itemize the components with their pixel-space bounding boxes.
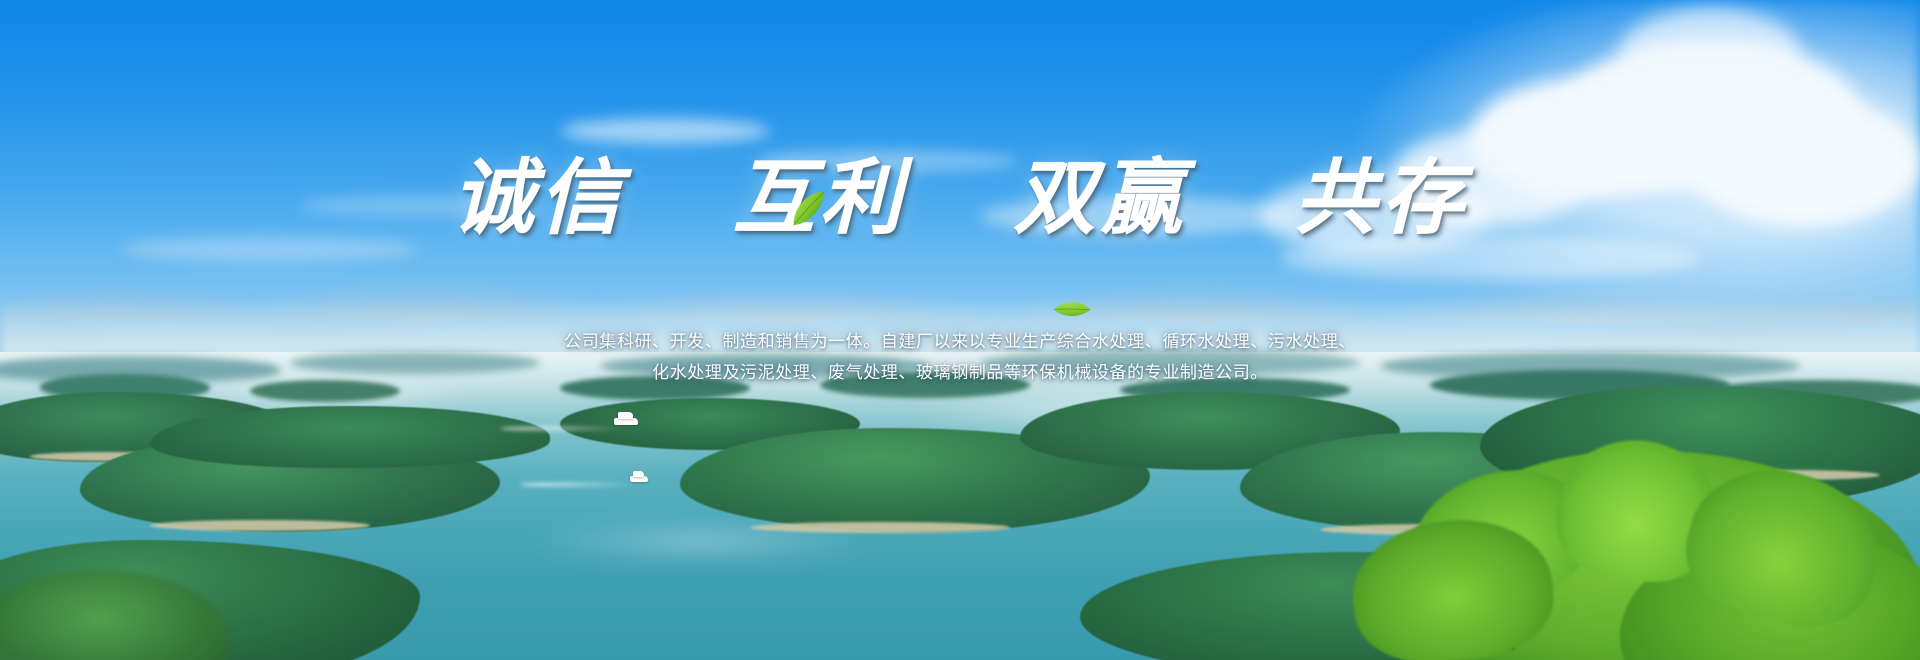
cloud-wisp-1 <box>560 118 770 144</box>
boat-large-hull <box>614 418 638 425</box>
boat-large-wake <box>500 426 630 431</box>
headline-word-1: 诚信 <box>452 150 626 246</box>
island-near-center-1 <box>150 406 550 468</box>
company-description: 公司集科研、开发、制造和销售为一体。自建厂以来以专业生产综合水处理、循环水处理、… <box>0 326 1920 388</box>
headline-word-4: 共存 <box>1294 150 1468 246</box>
hero-banner: 诚信 互利 双赢 共存 公司集科研、开发、制造和销售为一体。自建厂以来以专业生产… <box>0 0 1920 660</box>
shoreline-sand-2 <box>150 520 370 531</box>
page-title: 诚信 互利 双赢 共存 <box>0 157 1920 239</box>
cloud-puff-5 <box>1620 8 1800 96</box>
boat-small-cabin <box>633 471 644 477</box>
foreground-pine-foliage <box>1360 360 1920 660</box>
description-line-2: 化水处理及污泥处理、废气处理、玻璃钢制品等环保机械设备的专业制造公司。 <box>0 357 1920 388</box>
headline-word-3: 双赢 <box>1013 150 1187 246</box>
boat-small-wake <box>520 482 640 487</box>
boat-large-cabin <box>618 412 633 419</box>
shoreline-sand-3 <box>750 522 1010 533</box>
description-line-1: 公司集科研、开发、制造和销售为一体。自建厂以来以专业生产综合水处理、循环水处理、… <box>0 326 1920 357</box>
